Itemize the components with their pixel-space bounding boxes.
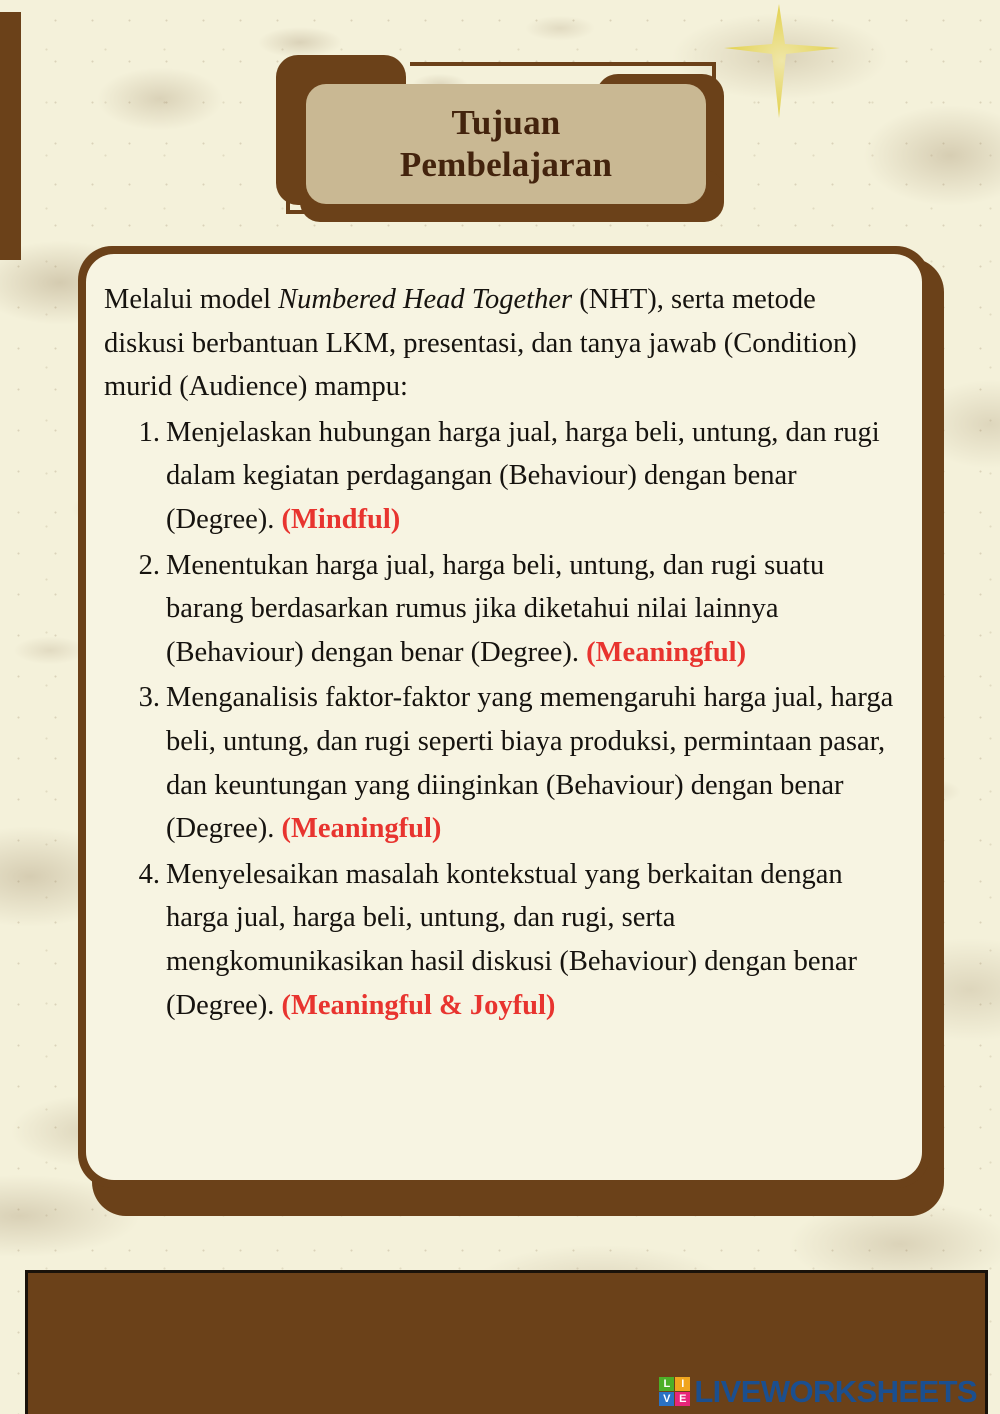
frame-line-top bbox=[410, 62, 716, 66]
goal-text: Menjelaskan hubungan harga jual, harga b… bbox=[166, 417, 880, 535]
list-item: Menganalisis faktor-faktor yang memengar… bbox=[162, 676, 900, 850]
live-square-v: V bbox=[659, 1392, 674, 1406]
content-card: Melalui model Numbered Head Together (NH… bbox=[78, 246, 930, 1188]
intro-part-1: Melalui model bbox=[104, 284, 278, 315]
page-title: Tujuan Pembelajaran bbox=[306, 84, 706, 204]
page-title-line-2: Pembelajaran bbox=[400, 145, 612, 185]
footer: L I V E LIVEWORKSHEETS bbox=[25, 1270, 988, 1414]
header: Tujuan Pembelajaran bbox=[0, 0, 1000, 240]
brand-wordmark: LIVEWORKSHEETS bbox=[694, 1376, 977, 1407]
content-card-inner: Melalui model Numbered Head Together (NH… bbox=[86, 254, 922, 1180]
goal-tag: (Mindful) bbox=[282, 504, 401, 535]
goals-list: Menjelaskan hubungan harga jual, harga b… bbox=[104, 411, 900, 1027]
intro-paragraph: Melalui model Numbered Head Together (NH… bbox=[104, 278, 900, 409]
page-title-line-1: Tujuan bbox=[452, 103, 561, 143]
goal-text: Menganalisis faktor-faktor yang memengar… bbox=[166, 682, 893, 844]
live-squares-icon: L I V E bbox=[659, 1377, 690, 1406]
goal-tag: (Meaningful & Joyful) bbox=[282, 990, 556, 1021]
list-item: Menjelaskan hubungan harga jual, harga b… bbox=[162, 411, 900, 542]
goal-tag: (Meaningful) bbox=[282, 813, 442, 844]
intro-emphasis: Numbered Head Together bbox=[278, 284, 572, 315]
goal-tag: (Meaningful) bbox=[586, 637, 746, 668]
live-square-l: L bbox=[659, 1377, 674, 1391]
worksheet-page: Tujuan Pembelajaran Melalui model Number… bbox=[0, 0, 1000, 1414]
liveworksheets-logo[interactable]: L I V E LIVEWORKSHEETS bbox=[659, 1376, 977, 1407]
live-square-e: E bbox=[675, 1392, 690, 1406]
list-item: Menentukan harga jual, harga beli, untun… bbox=[162, 544, 900, 675]
live-square-i: I bbox=[675, 1377, 690, 1391]
list-item: Menyelesaikan masalah kontekstual yang b… bbox=[162, 853, 900, 1027]
